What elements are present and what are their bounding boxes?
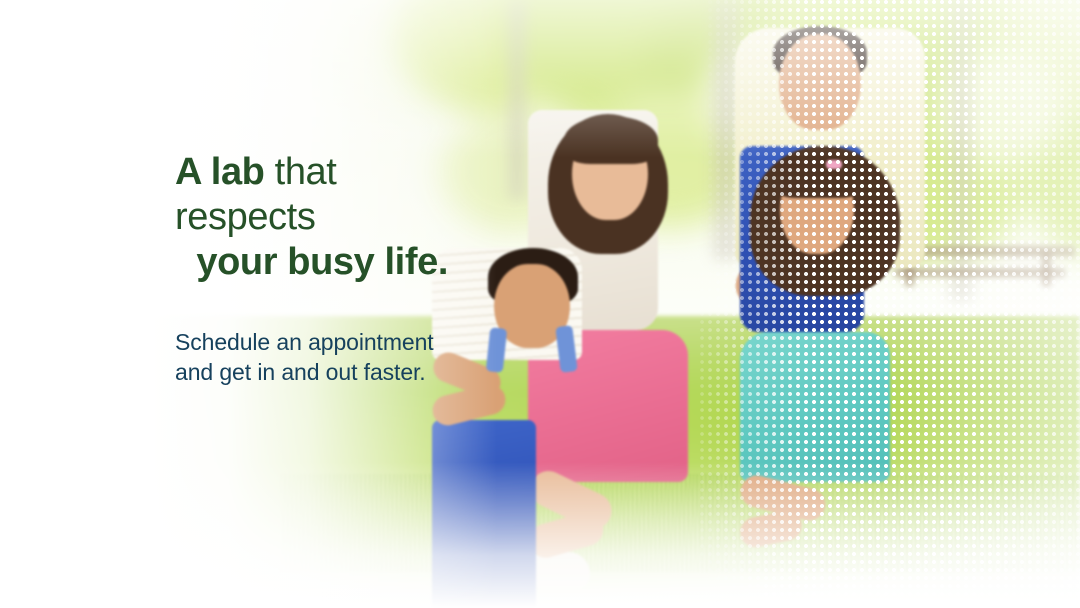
headline-line-2: your busy life. — [0, 240, 448, 285]
headline-line-1: A lab that respects — [0, 150, 448, 240]
marketing-banner: A lab that respects your busy life. Sche… — [0, 0, 1080, 608]
subcopy-line-1: Schedule an appointment — [175, 327, 470, 357]
subcopy: Schedule an appointment and get in and o… — [0, 327, 470, 387]
copy-block: A lab that respects your busy life. Sche… — [0, 150, 470, 387]
subcopy-line-2: and get in and out faster. — [175, 357, 470, 387]
headline: A lab that respects your busy life. — [0, 150, 470, 285]
halftone-dot-overlay — [700, 0, 1080, 608]
headline-emphasis: A lab — [175, 151, 265, 193]
